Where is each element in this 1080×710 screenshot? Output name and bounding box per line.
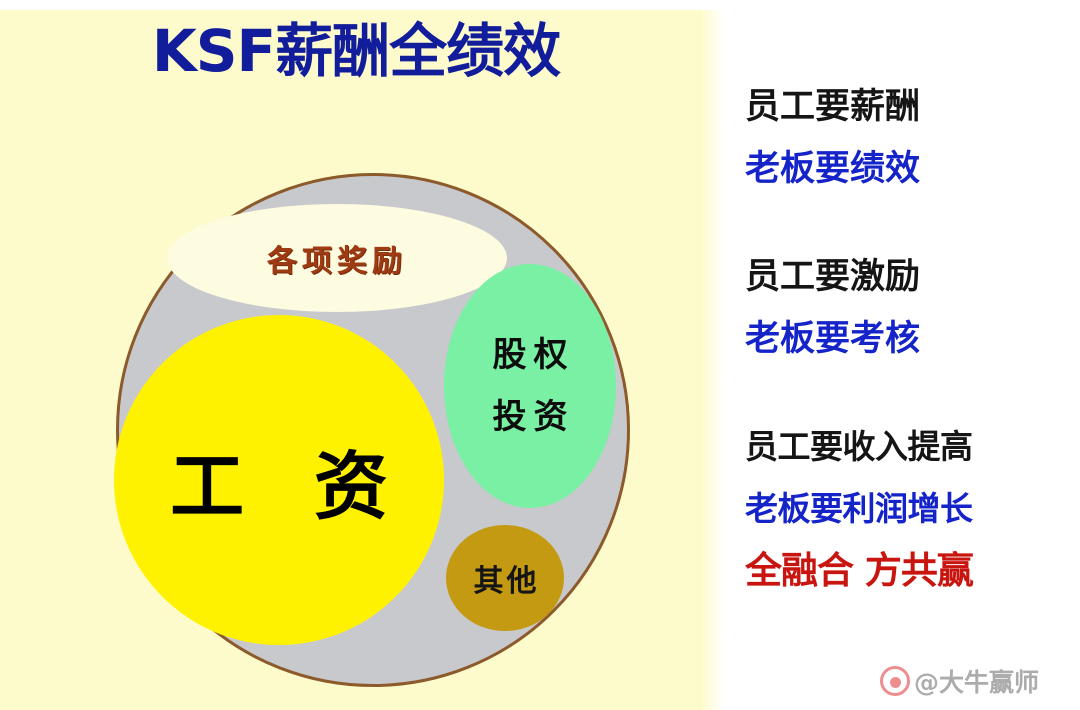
- circle-salary: 工 资: [114, 315, 444, 645]
- label-awards: 各项奖励: [267, 236, 407, 280]
- panel-edge-fade: [690, 10, 724, 710]
- ellipse-equity-investment: 股权 投资: [444, 264, 616, 508]
- slogan-group-1: 员工要薪酬 老板要绩效: [745, 76, 1075, 200]
- slogan-line: 老板要绩效: [745, 138, 1075, 200]
- slogan-line: 员工要薪酬: [745, 76, 1075, 138]
- slogan-line: 员工要激励: [745, 246, 1075, 308]
- weibo-eye-icon: [880, 666, 910, 696]
- page-title: KSF薪酬全绩效: [0, 18, 712, 84]
- weibo-watermark: @大牛赢师: [880, 663, 1039, 699]
- slogan-line: 老板要考核: [745, 308, 1075, 370]
- ellipse-awards: 各项奖励: [167, 204, 507, 312]
- slogan-group-3: 员工要收入提高 老板要利润增长 全融合 方共赢: [745, 416, 1075, 602]
- label-salary: 工 资: [148, 427, 410, 534]
- label-other: 其他: [471, 556, 540, 600]
- slogan-line: 员工要收入提高: [745, 416, 1075, 478]
- circle-other: 其他: [446, 525, 564, 631]
- label-equity-line-1: 股权: [486, 324, 575, 386]
- slogan-line: 全融合 方共赢: [745, 540, 1075, 602]
- watermark-text: @大牛赢师: [914, 663, 1039, 699]
- slogan-line: 老板要利润增长: [745, 478, 1075, 540]
- slogan-group-2: 员工要激励 老板要考核: [745, 246, 1075, 370]
- label-equity-line-2: 投资: [486, 386, 575, 448]
- slogan-column: 员工要薪酬 老板要绩效 员工要激励 老板要考核 员工要收入提高 老板要利润增长 …: [745, 60, 1075, 710]
- slide-canvas: KSF薪酬全绩效 各项奖励 股权 投资 其他 工 资 员工要薪酬 老板要绩效 员…: [0, 0, 1080, 710]
- venn-diagram: 各项奖励 股权 投资 其他 工 资: [116, 173, 636, 693]
